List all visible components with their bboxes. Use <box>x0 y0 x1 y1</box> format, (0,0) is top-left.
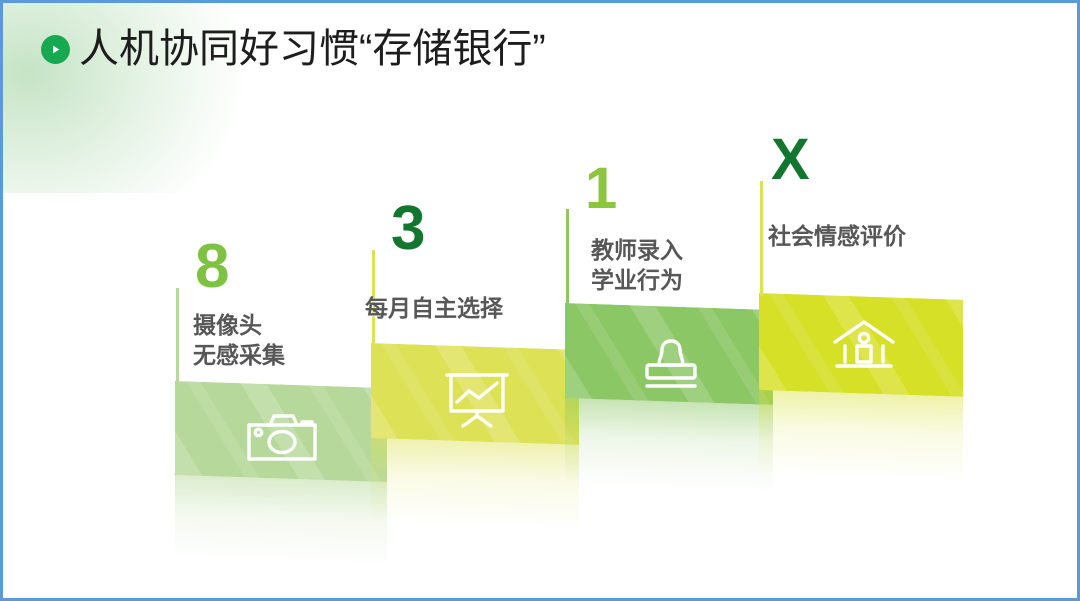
staircase-diagram: 8 摄像头 无感采集 <box>3 3 1080 601</box>
step-4-reflection-fill <box>759 388 963 483</box>
step-4-block <box>759 293 963 397</box>
step-4-reflection <box>759 388 963 483</box>
step-4-caption-line-1: 社会情感评价 <box>768 221 906 251</box>
slide-canvas: 人机协同好习惯“存储银行” <box>0 0 1080 601</box>
step-card-4[interactable]: X 社会情感评价 <box>3 3 1080 601</box>
step-4-accent-line <box>760 181 763 296</box>
step-4-number: X <box>771 131 810 189</box>
step-4-caption: 社会情感评价 <box>768 221 906 251</box>
step-4-block-fill <box>759 293 963 397</box>
